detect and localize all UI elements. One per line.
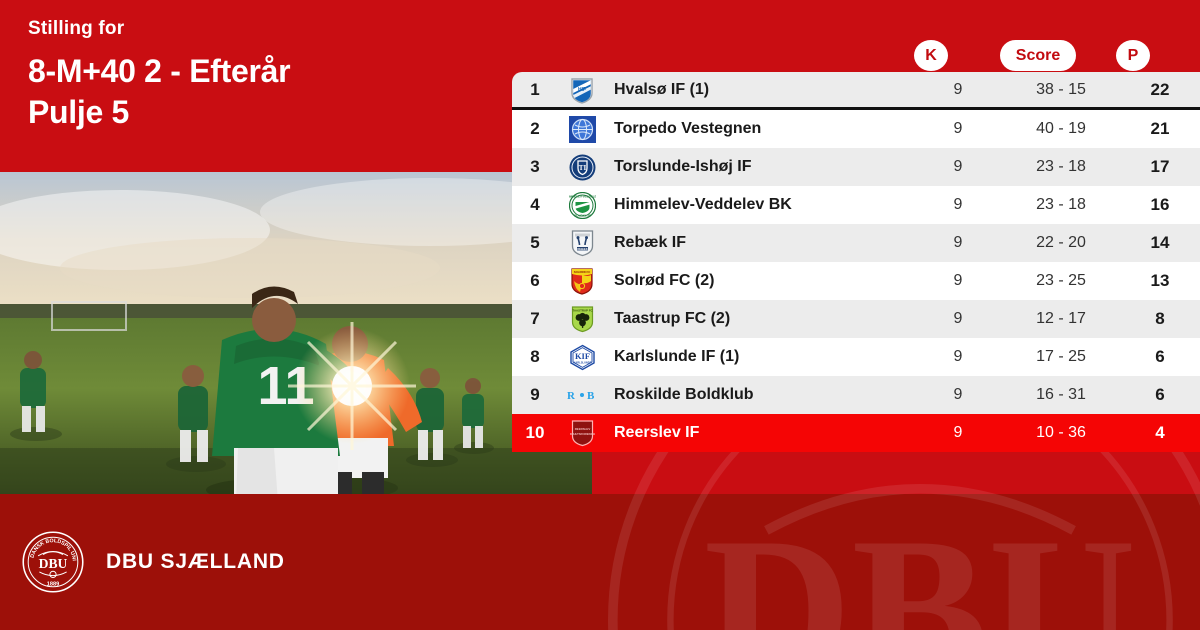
table-row[interactable]: 8 KIF KARLSLUNDE Karlslunde IF (1)917 - … bbox=[512, 338, 1200, 376]
row-matches: 9 bbox=[914, 348, 1002, 366]
footer-brand-label: DBU SJÆLLAND bbox=[106, 550, 285, 574]
table-row[interactable]: 1 HIF Hvalsø IF (1)938 - 1522 bbox=[512, 72, 1200, 110]
row-matches: 9 bbox=[914, 234, 1002, 252]
column-header-score: Score bbox=[1000, 40, 1076, 71]
row-team-name: Torslunde-Ishøj IF bbox=[606, 158, 914, 176]
svg-text:DBU: DBU bbox=[39, 556, 68, 571]
column-header-p: P bbox=[1116, 40, 1150, 71]
svg-text:1889: 1889 bbox=[47, 582, 59, 588]
row-goals: 16 - 31 bbox=[1002, 386, 1120, 404]
svg-text:SOLRØD FC: SOLRØD FC bbox=[574, 270, 590, 274]
svg-text:REERSLEV: REERSLEV bbox=[574, 427, 590, 431]
svg-text:HIF: HIF bbox=[578, 87, 586, 93]
taastrup-fc-logo: TAASTRUP FC bbox=[558, 305, 606, 333]
row-matches: 9 bbox=[914, 424, 1002, 442]
page-title-line1: 8-M+40 2 - Efterår bbox=[28, 51, 498, 92]
column-header-k: K bbox=[914, 40, 948, 71]
row-goals: 17 - 25 bbox=[1002, 348, 1120, 366]
row-points: 6 bbox=[1120, 347, 1200, 367]
row-matches: 9 bbox=[914, 158, 1002, 176]
row-points: 22 bbox=[1120, 80, 1200, 100]
svg-text:KARLSLUNDE: KARLSLUNDE bbox=[573, 360, 591, 364]
row-goals: 38 - 15 bbox=[1002, 81, 1120, 99]
row-points: 6 bbox=[1120, 385, 1200, 405]
row-team-name: Himmelev-Veddelev BK bbox=[606, 196, 914, 214]
row-points: 8 bbox=[1120, 309, 1200, 329]
table-row[interactable]: 9 R B Roskilde Boldklub916 - 316 bbox=[512, 376, 1200, 414]
svg-text:BOLDKLUB: BOLDKLUB bbox=[574, 213, 592, 217]
page-title: 8-M+40 2 - Efterår Pulje 5 bbox=[28, 51, 498, 133]
table-row[interactable]: 4 HIMMELEV-VEDDELEV BOLDKLUB Himmelev-Ve… bbox=[512, 186, 1200, 224]
row-team-name: Taastrup FC (2) bbox=[606, 310, 914, 328]
svg-text:R: R bbox=[567, 390, 576, 402]
svg-text:TI: TI bbox=[578, 164, 586, 172]
row-position: 1 bbox=[512, 80, 558, 100]
svg-text:TAASTRUP FC: TAASTRUP FC bbox=[572, 308, 593, 312]
row-matches: 9 bbox=[914, 196, 1002, 214]
row-team-name: Hvalsø IF (1) bbox=[606, 81, 914, 99]
row-goals: 22 - 20 bbox=[1002, 234, 1120, 252]
page-title-line2: Pulje 5 bbox=[28, 92, 498, 133]
row-goals: 40 - 19 bbox=[1002, 120, 1120, 138]
header-kicker: Stilling for bbox=[28, 18, 498, 41]
row-goals: 10 - 36 bbox=[1002, 424, 1120, 442]
roskilde-boldklub-logo: R B bbox=[558, 388, 606, 402]
row-team-name: Karlslunde IF (1) bbox=[606, 348, 914, 366]
row-points: 17 bbox=[1120, 157, 1200, 177]
row-position: 8 bbox=[512, 347, 558, 367]
svg-text:B: B bbox=[587, 390, 595, 402]
table-row[interactable]: 10 REERSLEV IDRÆTSFORENING Reerslev IF91… bbox=[512, 414, 1200, 452]
row-goals: 23 - 18 bbox=[1002, 158, 1120, 176]
row-position: 2 bbox=[512, 119, 558, 139]
torslunde-ishoej-if-logo: TI bbox=[558, 154, 606, 181]
dbu-crest-icon: DANSK BOLDSPIL UNION DBU 1889 bbox=[22, 531, 84, 593]
reerslev-if-logo: REERSLEV IDRÆTSFORENING bbox=[558, 419, 606, 447]
row-position: 6 bbox=[512, 271, 558, 291]
karlslunde-if-logo: KIF KARLSLUNDE bbox=[558, 344, 606, 371]
rebaek-if-logo: REBÆK bbox=[558, 229, 606, 257]
row-team-name: Torpedo Vestegnen bbox=[606, 120, 914, 138]
table-row[interactable]: 7 TAASTRUP FC Taastrup FC (2)912 - 178 bbox=[512, 300, 1200, 338]
footer-bar: DANSK BOLDSPIL UNION DBU 1889 DBU SJÆLLA… bbox=[0, 494, 1200, 630]
svg-text:IDRÆTSFORENING: IDRÆTSFORENING bbox=[570, 432, 595, 436]
svg-text:KIF: KIF bbox=[574, 351, 589, 361]
row-matches: 9 bbox=[914, 120, 1002, 138]
row-team-name: Reerslev IF bbox=[606, 424, 914, 442]
solroed-fc-logo: SOLRØD FC bbox=[558, 267, 606, 295]
row-position: 5 bbox=[512, 233, 558, 253]
himmelev-veddelev-bk-logo: HIMMELEV-VEDDELEV BOLDKLUB bbox=[558, 192, 606, 219]
torpedo-vestegnen-logo bbox=[558, 116, 606, 143]
row-points: 14 bbox=[1120, 233, 1200, 253]
row-points: 16 bbox=[1120, 195, 1200, 215]
football-match-photo: 11 bbox=[0, 172, 592, 494]
row-team-name: Roskilde Boldklub bbox=[606, 386, 914, 404]
row-points: 21 bbox=[1120, 119, 1200, 139]
row-points: 4 bbox=[1120, 423, 1200, 443]
standings-table: 1 HIF Hvalsø IF (1)938 - 15222 Torpedo V… bbox=[512, 72, 1200, 452]
table-row[interactable]: 6 SOLRØD FC Solrød FC (2)923 - 2513 bbox=[512, 262, 1200, 300]
svg-text:REBÆK: REBÆK bbox=[577, 247, 587, 251]
row-points: 13 bbox=[1120, 271, 1200, 291]
row-team-name: Rebæk IF bbox=[606, 234, 914, 252]
row-team-name: Solrød FC (2) bbox=[606, 272, 914, 290]
row-matches: 9 bbox=[914, 81, 1002, 99]
page-header: Stilling for 8-M+40 2 - Efterår Pulje 5 bbox=[28, 18, 498, 133]
svg-text:HIMMELEV-VEDDELEV: HIMMELEV-VEDDELEV bbox=[569, 194, 596, 198]
table-row[interactable]: 2 Torpedo Vestegnen940 - 1921 bbox=[512, 110, 1200, 148]
row-position: 4 bbox=[512, 195, 558, 215]
table-row[interactable]: 3 TI Torslunde-Ishøj IF923 - 1817 bbox=[512, 148, 1200, 186]
row-goals: 23 - 18 bbox=[1002, 196, 1120, 214]
table-row[interactable]: 5 REBÆK Rebæk IF922 - 2014 bbox=[512, 224, 1200, 262]
row-position: 9 bbox=[512, 385, 558, 405]
row-goals: 12 - 17 bbox=[1002, 310, 1120, 328]
hvalsoe-if-logo: HIF bbox=[558, 76, 606, 104]
row-position: 3 bbox=[512, 157, 558, 177]
row-goals: 23 - 25 bbox=[1002, 272, 1120, 290]
row-position: 10 bbox=[512, 423, 558, 443]
row-matches: 9 bbox=[914, 310, 1002, 328]
row-matches: 9 bbox=[914, 272, 1002, 290]
row-position: 7 bbox=[512, 309, 558, 329]
row-matches: 9 bbox=[914, 386, 1002, 404]
